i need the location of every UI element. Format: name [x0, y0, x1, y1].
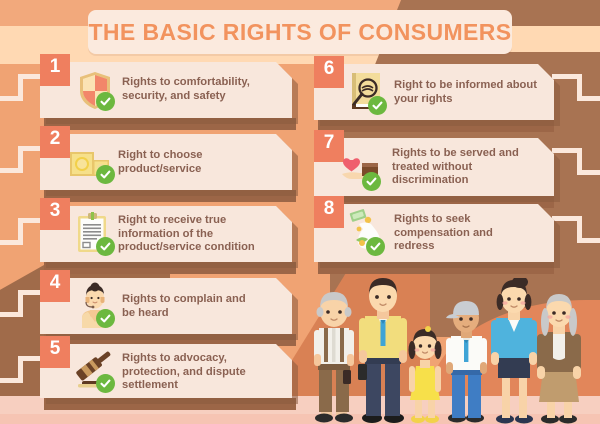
right-item-card[interactable]: 4 Rights to complain and be heard	[40, 278, 292, 334]
item-number-badge: 3	[40, 198, 70, 230]
right-item-card[interactable]: 1 Rights to comfortability, security, an…	[40, 62, 292, 118]
item-number-badge: 5	[40, 336, 70, 368]
check-icon	[366, 237, 385, 256]
right-item-card[interactable]: 3 Right to receive true information o	[40, 206, 292, 262]
item-label: Right to choose product/service	[118, 149, 283, 176]
right-item-card[interactable]: 7 Rights to be served and treated withou…	[314, 138, 554, 196]
boy-figure	[442, 298, 490, 424]
item-number-badge: 4	[40, 270, 70, 302]
elderly-woman-figure	[534, 290, 584, 424]
item-label: Rights to complain and be heard	[122, 293, 287, 320]
right-item-card[interactable]: 8 Rights to seek compensation and redres…	[314, 204, 554, 262]
infographic-canvas: THE BASIC RIGHTS OF CONSUMERS 1 Rights t…	[0, 0, 600, 424]
right-item-card[interactable]: 5 Rights to advocacy, protection, and di…	[40, 344, 292, 398]
item-label: Rights to seek compensation and redress	[394, 213, 552, 254]
item-label: Rights to comfortability, security, and …	[122, 76, 282, 103]
item-label: Rights to advocacy, protection, and disp…	[122, 352, 287, 393]
right-item-card[interactable]: 6 Right to be informed about your rights	[314, 64, 554, 120]
woman-figure	[488, 278, 540, 424]
young-man-figure	[356, 276, 410, 424]
check-icon	[96, 237, 115, 256]
consumers-illustration	[308, 276, 588, 424]
item-number-badge: 6	[314, 56, 344, 88]
item-label: Right to be informed about your rights	[394, 79, 552, 106]
check-icon	[96, 309, 115, 328]
page-title-text: THE BASIC RIGHTS OF CONSUMERS	[88, 19, 511, 46]
check-icon	[96, 92, 115, 111]
page-title: THE BASIC RIGHTS OF CONSUMERS	[88, 10, 512, 54]
check-icon	[368, 96, 387, 115]
check-icon	[96, 374, 115, 393]
item-number-badge: 8	[314, 196, 344, 228]
elderly-man-figure	[310, 288, 358, 424]
check-icon	[362, 172, 381, 191]
check-icon	[96, 165, 115, 184]
item-number-badge: 1	[40, 54, 70, 86]
item-label: Right to receive true information of the…	[118, 214, 290, 255]
right-item-card[interactable]: 2 Right to choose product/service	[40, 134, 292, 190]
item-label: Rights to be served and treated without …	[392, 147, 554, 188]
girl-figure	[404, 320, 446, 424]
